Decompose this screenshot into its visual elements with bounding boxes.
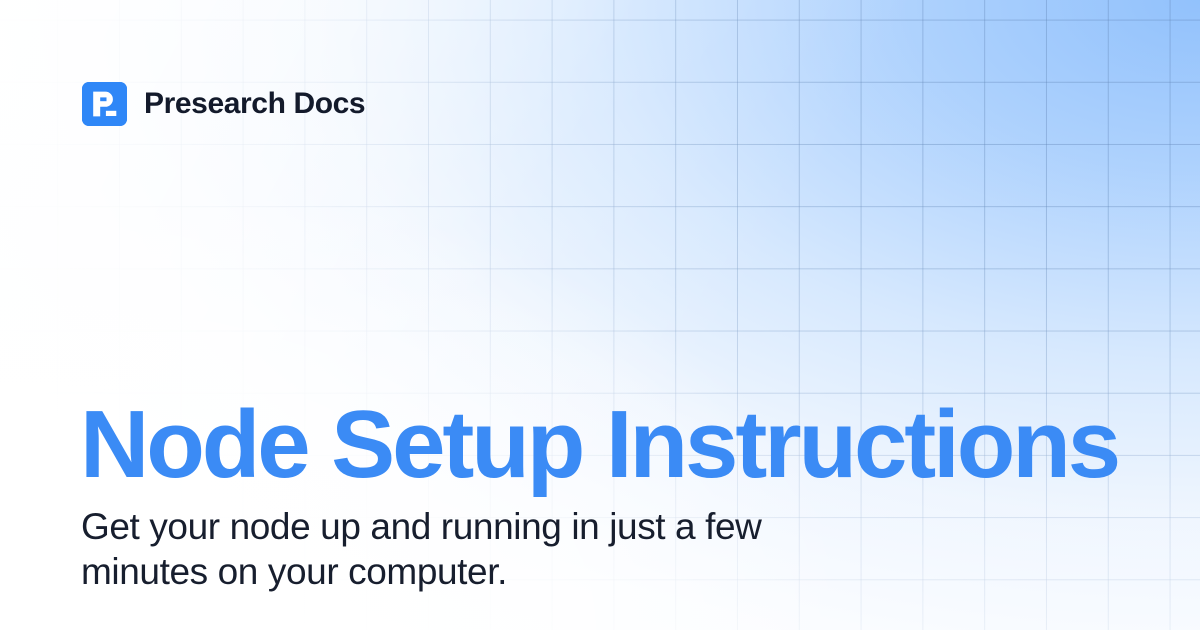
card-content: Presearch Docs Node Setup Instructions G… <box>0 0 1200 630</box>
presearch-p-logo-icon <box>82 82 127 126</box>
brand-name-label: Presearch Docs <box>144 89 365 119</box>
page-subtitle-line-2: minutes on your computer. <box>81 549 801 594</box>
brand-lockup: Presearch Docs <box>82 82 365 126</box>
page-subtitle-line-1: Get your node up and running in just a f… <box>81 504 801 549</box>
page-title: Node Setup Instructions <box>80 397 1120 493</box>
social-card: Presearch Docs Node Setup Instructions G… <box>0 0 1200 630</box>
page-subtitle: Get your node up and running in just a f… <box>81 504 801 594</box>
